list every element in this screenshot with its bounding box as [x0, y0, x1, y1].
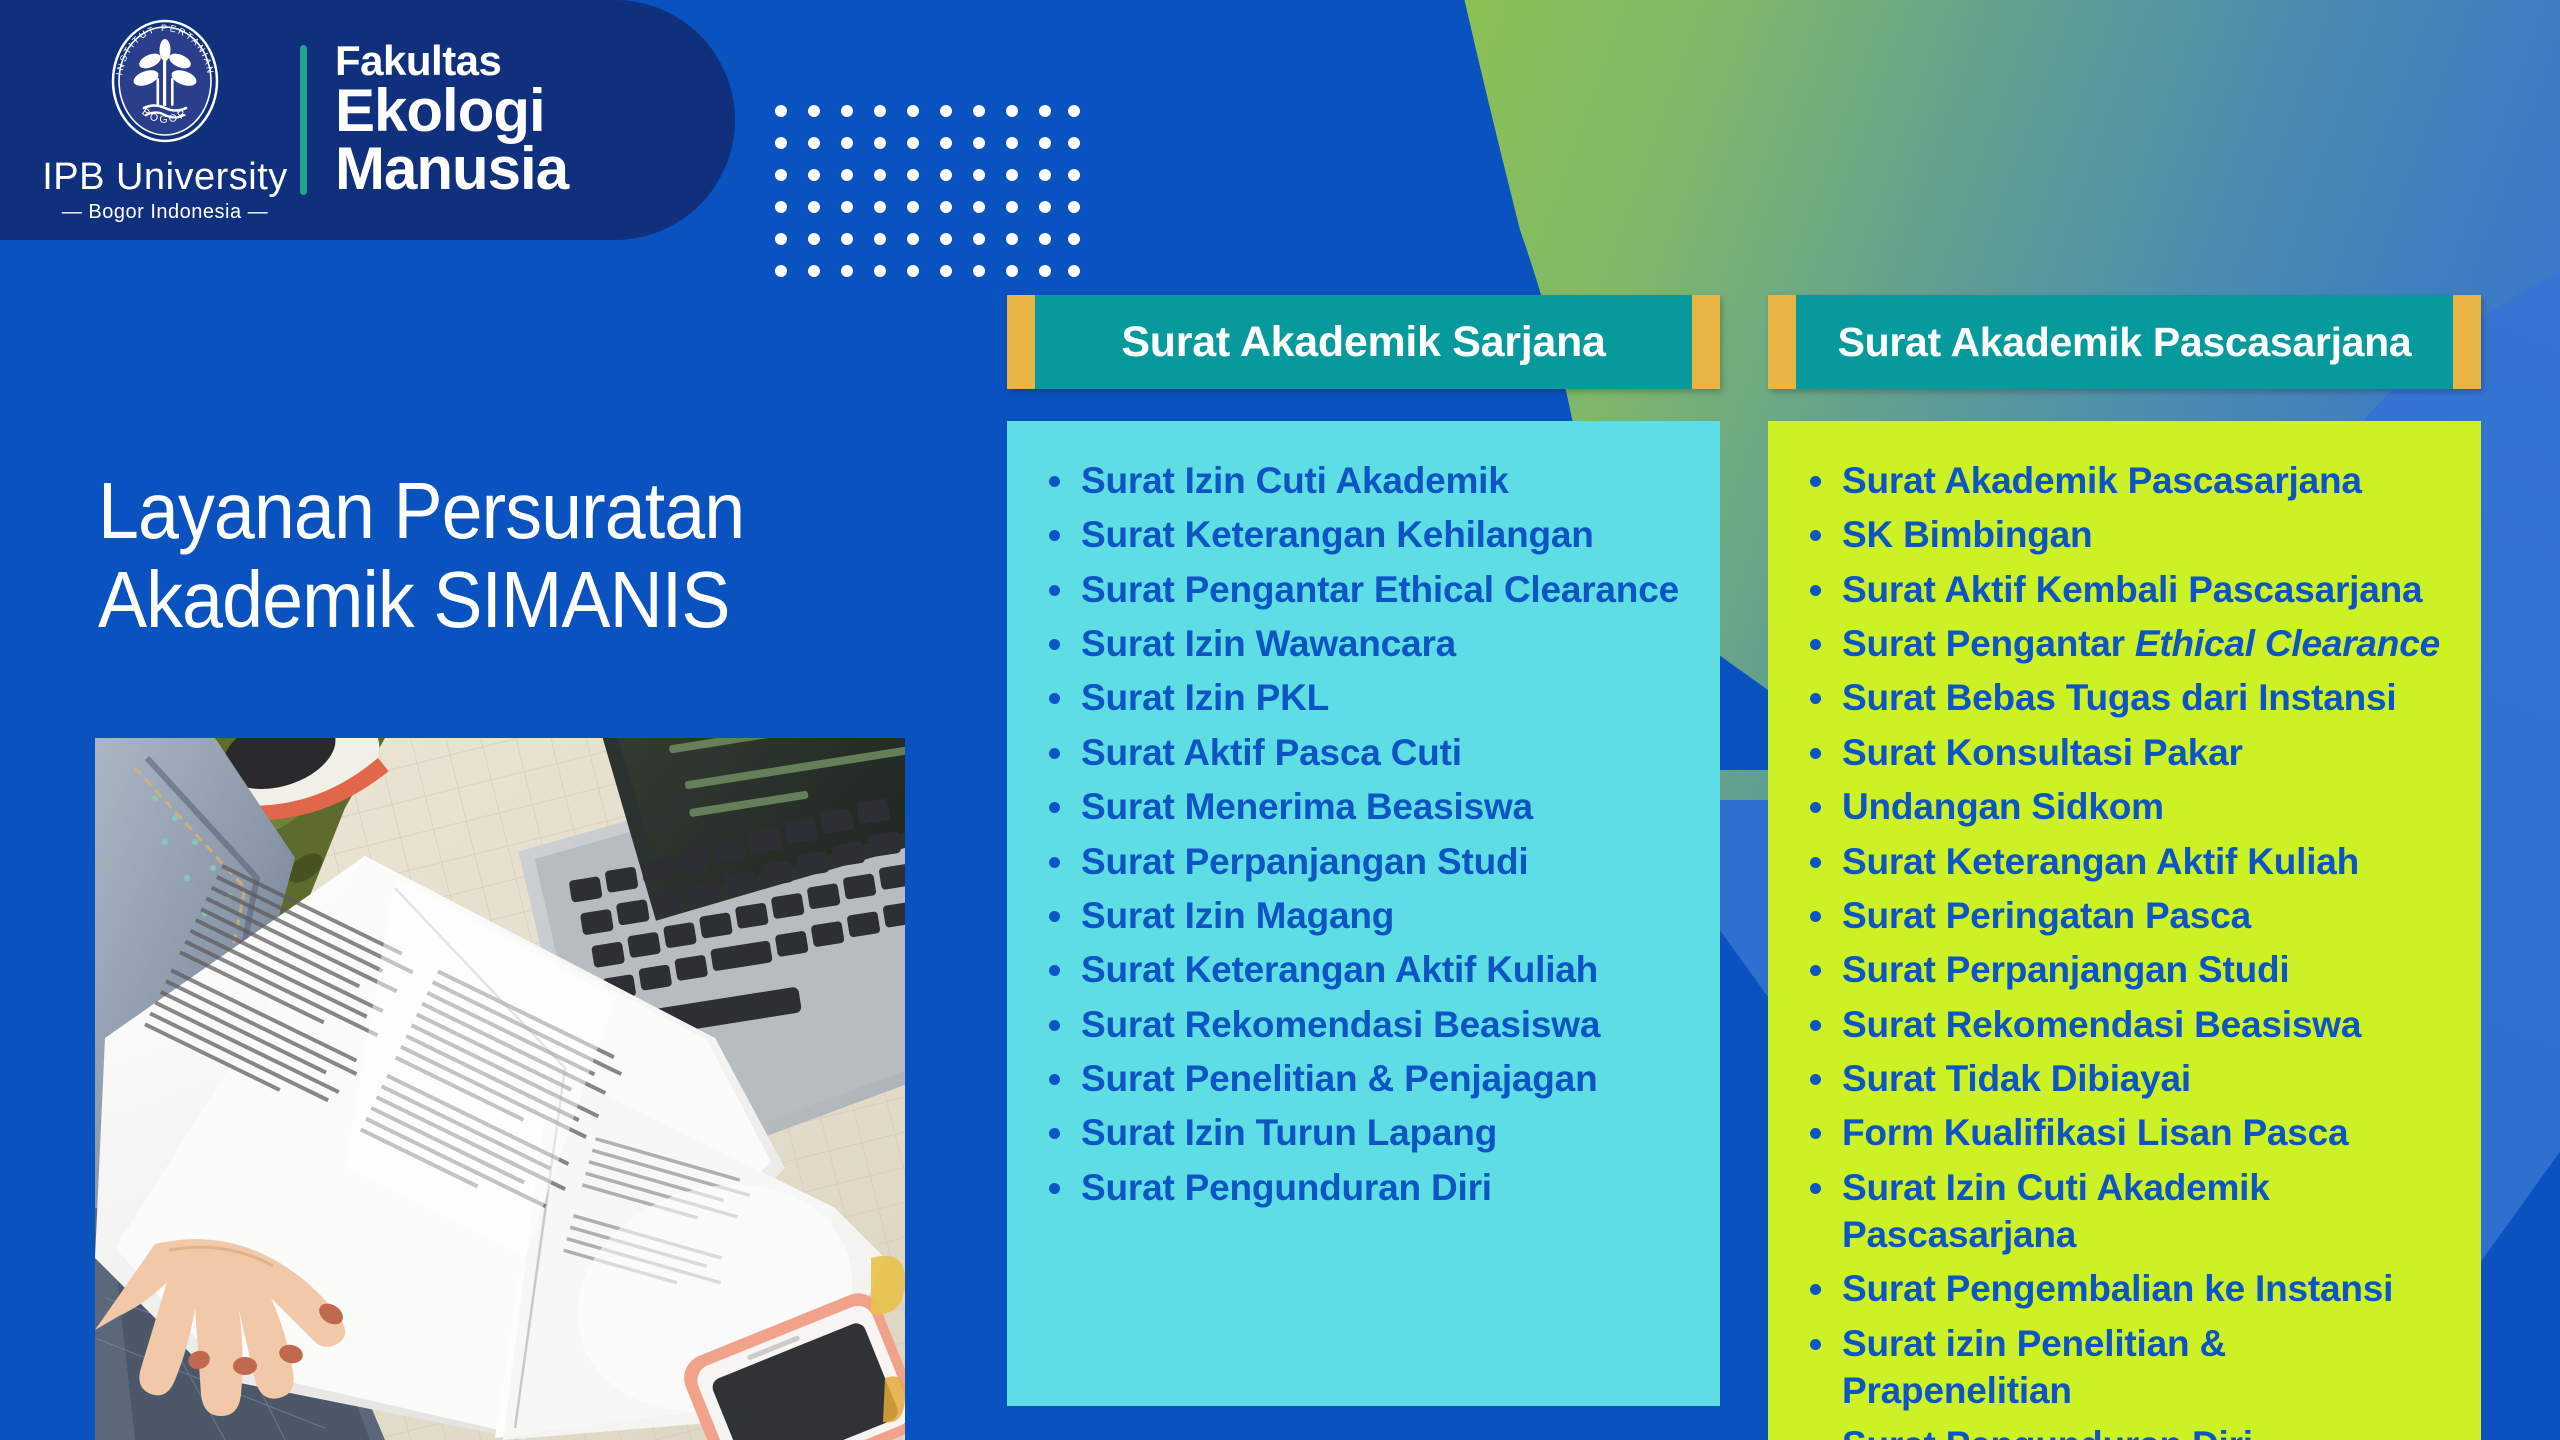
panel-title-sarjana: Surat Akademik Sarjana: [1035, 318, 1692, 367]
list-item[interactable]: Surat Perpanjangan Studi: [1836, 946, 2465, 993]
list-item[interactable]: SK Bimbingan: [1836, 511, 2465, 558]
list-item[interactable]: Surat Pengunduran Diri: [1075, 1164, 1704, 1211]
header-accent-right: [1692, 295, 1720, 389]
panel-body-sarjana: Surat Izin Cuti Akademik Surat Keteranga…: [1007, 421, 1720, 1406]
logo-block: INSTITUT PERTANIAN BOGOR IPB University …: [40, 16, 568, 224]
list-item[interactable]: Surat Izin Cuti Akademik: [1075, 457, 1704, 504]
header-title-bar: Surat Akademik Sarjana: [1035, 295, 1692, 389]
letter-list-sarjana: Surat Izin Cuti Akademik Surat Keteranga…: [1025, 457, 1704, 1211]
list-item[interactable]: Surat Pengantar Ethical Clearance: [1836, 620, 2465, 667]
list-item[interactable]: Surat Izin Magang: [1075, 892, 1704, 939]
list-item[interactable]: Surat Keterangan Aktif Kuliah: [1836, 838, 2465, 885]
page-title-line-2: Akademik SIMANIS: [98, 555, 926, 645]
list-item[interactable]: Surat Izin Turun Lapang: [1075, 1109, 1704, 1156]
list-item[interactable]: Surat Bebas Tugas dari Instansi: [1836, 674, 2465, 721]
list-item-italic: Ethical Clearance: [2135, 623, 2440, 664]
list-item[interactable]: Surat Penelitian & Penjajagan: [1075, 1055, 1704, 1102]
university-name: IPB University: [42, 158, 288, 196]
ipb-university-logo: INSTITUT PERTANIAN BOGOR IPB University …: [40, 16, 290, 224]
ipb-seal-icon: INSTITUT PERTANIAN BOGOR: [106, 16, 224, 151]
panel-header-sarjana[interactable]: Surat Akademik Sarjana: [1007, 295, 1720, 389]
list-item[interactable]: Surat Tidak Dibiayai: [1836, 1055, 2465, 1102]
header-accent-left: [1768, 295, 1796, 389]
column-pascasarjana: Surat Akademik Pascasarjana Surat Akadem…: [1768, 295, 2481, 1440]
list-item[interactable]: Surat Perpanjangan Studi: [1075, 838, 1704, 885]
brand-header-pill: INSTITUT PERTANIAN BOGOR IPB University …: [0, 0, 735, 240]
header-title-bar: Surat Akademik Pascasarjana: [1796, 295, 2453, 389]
page-title: Layanan Persuratan Akademik SIMANIS: [98, 466, 926, 645]
list-item[interactable]: Undangan Sidkom: [1836, 783, 2465, 830]
panel-body-pascasarjana: Surat Akademik Pascasarjana SK Bimbingan…: [1768, 421, 2481, 1440]
page-title-line-1: Layanan Persuratan: [98, 466, 744, 555]
list-item[interactable]: Surat Rekomendasi Beasiswa: [1075, 1001, 1704, 1048]
list-item[interactable]: Surat Keterangan Aktif Kuliah: [1075, 946, 1704, 993]
faculty-name: Fakultas Ekologi Manusia: [335, 41, 568, 198]
list-item-plain: Surat Pengantar: [1842, 623, 2135, 664]
list-item[interactable]: Surat Akademik Pascasarjana: [1836, 457, 2465, 504]
header-accent-left: [1007, 295, 1035, 389]
faculty-line-2: Ekologi: [335, 82, 568, 140]
list-item[interactable]: Surat Keterangan Kehilangan: [1075, 511, 1704, 558]
list-item[interactable]: Surat Pengunduran Diri: [1836, 1421, 2465, 1440]
poster-canvas: INSTITUT PERTANIAN BOGOR IPB University …: [0, 0, 2560, 1440]
list-item[interactable]: Surat Aktif Pasca Cuti: [1075, 729, 1704, 776]
dot-grid-decoration: [775, 105, 1080, 277]
column-sarjana: Surat Akademik Sarjana Surat Izin Cuti A…: [1007, 295, 1720, 1406]
letter-list-pascasarjana: Surat Akademik Pascasarjana SK Bimbingan…: [1786, 457, 2465, 1440]
list-item[interactable]: Surat Aktif Kembali Pascasarjana: [1836, 566, 2465, 613]
list-item[interactable]: Surat Peringatan Pasca: [1836, 892, 2465, 939]
faculty-line-3: Manusia: [335, 140, 568, 198]
list-item[interactable]: Surat Pengantar Ethical Clearance: [1075, 566, 1704, 613]
panel-header-pascasarjana[interactable]: Surat Akademik Pascasarjana: [1768, 295, 2481, 389]
list-item[interactable]: Form Kualifikasi Lisan Pasca: [1836, 1109, 2465, 1156]
list-item[interactable]: Surat Konsultasi Pakar: [1836, 729, 2465, 776]
brand-divider: [300, 45, 307, 195]
list-item[interactable]: Surat Pengembalian ke Instansi: [1836, 1265, 2465, 1312]
hero-photo: [95, 738, 905, 1440]
university-subtitle: — Bogor Indonesia —: [62, 201, 268, 224]
list-item[interactable]: Surat Izin PKL: [1075, 674, 1704, 721]
list-item[interactable]: Surat Rekomendasi Beasiswa: [1836, 1001, 2465, 1048]
faculty-line-1: Fakultas: [335, 41, 568, 82]
panel-title-pascasarjana: Surat Akademik Pascasarjana: [1796, 319, 2453, 366]
list-item[interactable]: Surat Menerima Beasiswa: [1075, 783, 1704, 830]
list-item[interactable]: Surat Izin Cuti Akademik Pascasarjana: [1836, 1164, 2465, 1259]
list-item[interactable]: Surat izin Penelitian & Prapenelitian: [1836, 1320, 2465, 1415]
header-accent-right: [2453, 295, 2481, 389]
list-item[interactable]: Surat Izin Wawancara: [1075, 620, 1704, 667]
